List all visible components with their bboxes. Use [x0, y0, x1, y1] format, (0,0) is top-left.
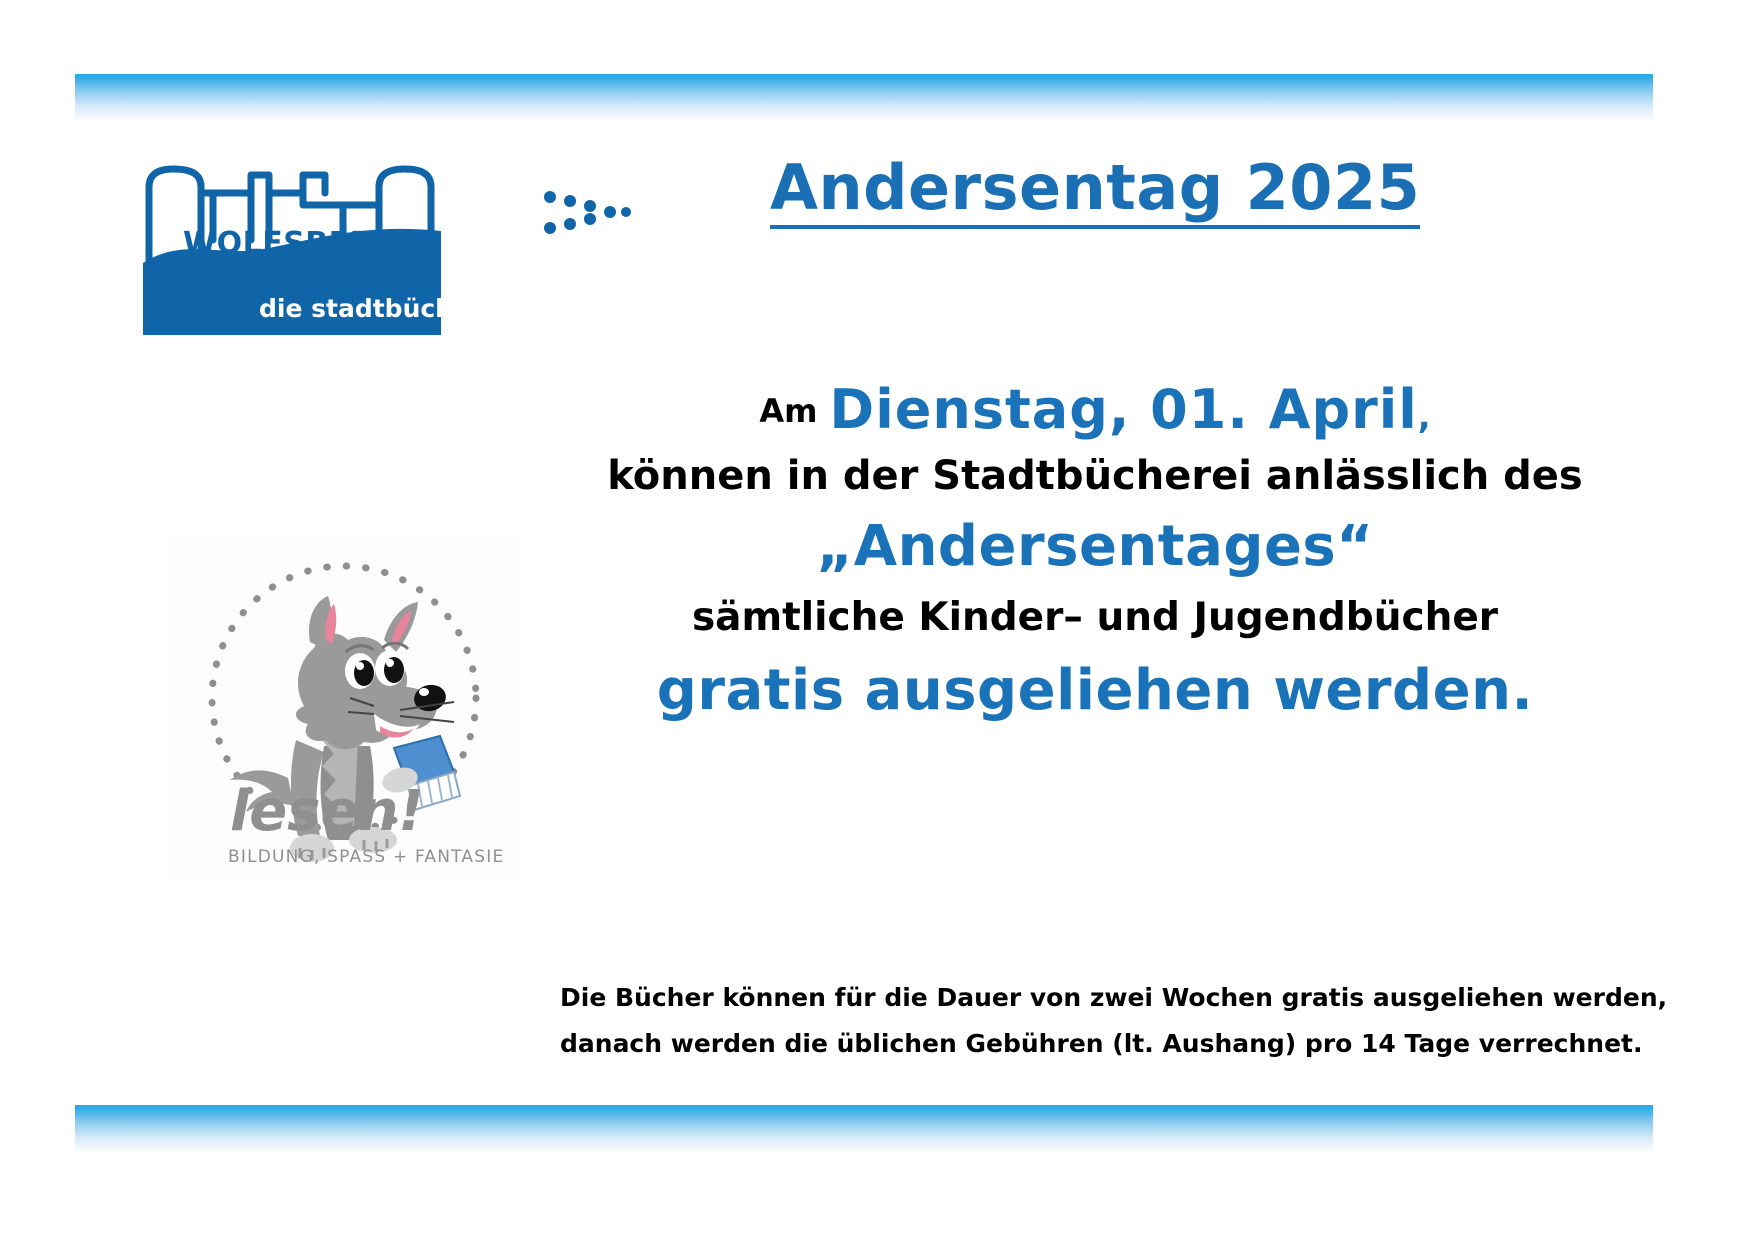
- decorative-bar-bottom: [75, 1105, 1653, 1153]
- announcement-line-4: sämtliche Kinder– und Jugendbücher: [580, 596, 1610, 641]
- decorative-bar-top: [75, 74, 1653, 122]
- poster-page: WOLFSBERG die stadtbücherei Andersentag …: [0, 0, 1754, 1240]
- announcement-line-2: können in der Stadtbücherei anlässlich d…: [580, 453, 1610, 499]
- announcement-prefix: Am: [759, 392, 817, 430]
- page-title: Andersentag 2025: [770, 155, 1420, 229]
- announcement-text: AmDienstag, 01. April, können in der Sta…: [580, 380, 1610, 723]
- terms-footnote: Die Bücher können für die Dauer von zwei…: [560, 975, 1640, 1068]
- announcement-line-date: AmDienstag, 01. April,: [580, 380, 1610, 439]
- mascot-tagline: BILDUNG, SPASS + FANTASIE: [228, 847, 504, 867]
- announcement-event-name: „Andersentages“: [580, 515, 1610, 579]
- wolfsberg-library-logo: WOLFSBERG die stadtbücherei: [143, 145, 490, 335]
- logo-city-name: WOLFSBERG: [183, 226, 398, 261]
- event-date: Dienstag, 01. April: [829, 378, 1417, 441]
- date-comma: ,: [1418, 397, 1431, 437]
- lesen-mascot-logo: lesen! BILDUNG, SPASS + FANTASIE: [168, 540, 520, 885]
- logo-subtitle: die stadtbücherei: [259, 294, 490, 323]
- mascot-wordmark: lesen!: [230, 779, 424, 844]
- announcement-offer: gratis ausgeliehen werden.: [580, 659, 1610, 723]
- footnote-line-1: Die Bücher können für die Dauer von zwei…: [560, 975, 1640, 1021]
- footnote-line-2: danach werden die üblichen Gebühren (lt.…: [560, 1021, 1640, 1067]
- arrow-dots-icon: [540, 185, 640, 240]
